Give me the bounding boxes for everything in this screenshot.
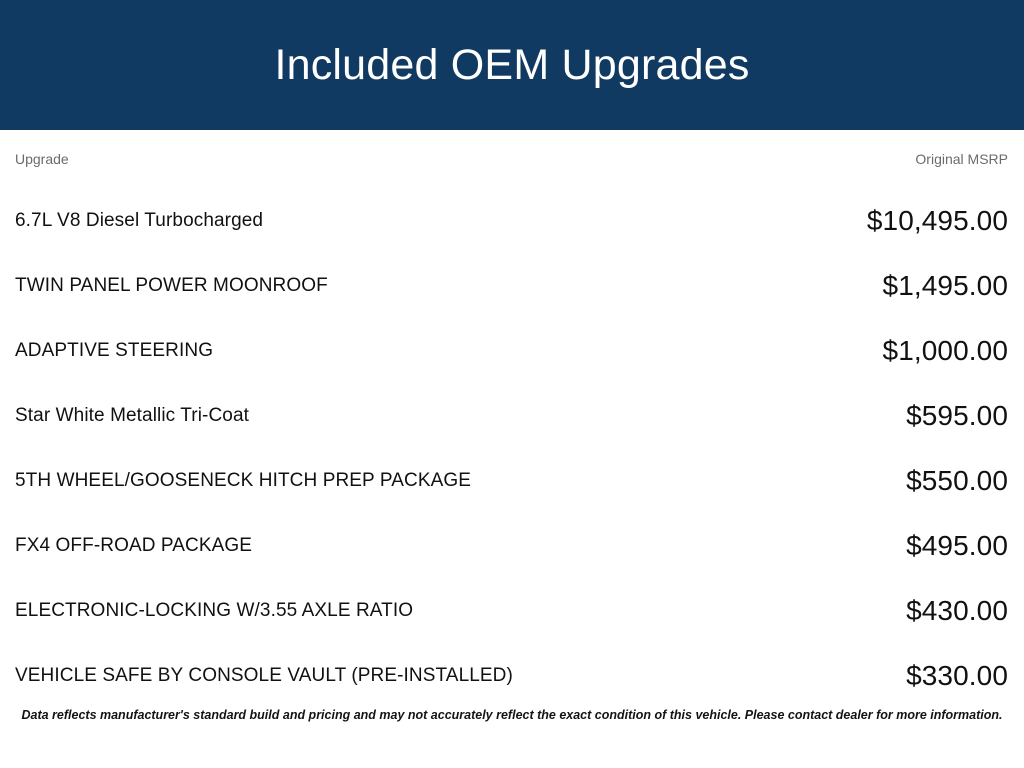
upgrade-name: 5TH WHEEL/GOOSENECK HITCH PREP PACKAGE xyxy=(15,448,789,513)
upgrade-price: $1,000.00 xyxy=(789,318,1008,383)
table-row: VEHICLE SAFE BY CONSOLE VAULT (PRE-INSTA… xyxy=(15,643,1008,708)
table-header: Upgrade Original MSRP xyxy=(15,130,1008,188)
column-header-msrp: Original MSRP xyxy=(789,130,1008,188)
upgrade-name: ELECTRONIC-LOCKING W/3.55 AXLE RATIO xyxy=(15,578,789,643)
upgrade-price: $595.00 xyxy=(789,383,1008,448)
upgrade-name: 6.7L V8 Diesel Turbocharged xyxy=(15,188,789,253)
upgrade-price: $1,495.00 xyxy=(789,253,1008,318)
column-header-upgrade: Upgrade xyxy=(15,130,789,188)
disclaimer-text: Data reflects manufacturer's standard bu… xyxy=(0,708,1024,723)
upgrade-name: ADAPTIVE STEERING xyxy=(15,318,789,383)
oem-upgrades-page: Included OEM Upgrades Upgrade Original M… xyxy=(0,0,1024,768)
upgrade-price: $330.00 xyxy=(789,643,1008,708)
upgrade-price: $550.00 xyxy=(789,448,1008,513)
upgrade-price: $495.00 xyxy=(789,513,1008,578)
table-row: 5TH WHEEL/GOOSENECK HITCH PREP PACKAGE $… xyxy=(15,448,1008,513)
table-row: TWIN PANEL POWER MOONROOF $1,495.00 xyxy=(15,253,1008,318)
upgrade-name: FX4 OFF-ROAD PACKAGE xyxy=(15,513,789,578)
table-body: 6.7L V8 Diesel Turbocharged $10,495.00 T… xyxy=(15,188,1008,708)
table-row: 6.7L V8 Diesel Turbocharged $10,495.00 xyxy=(15,188,1008,253)
upgrade-price: $430.00 xyxy=(789,578,1008,643)
upgrades-table: Upgrade Original MSRP 6.7L V8 Diesel Tur… xyxy=(15,130,1008,708)
table-header-row: Upgrade Original MSRP xyxy=(15,130,1008,188)
upgrades-table-container: Upgrade Original MSRP 6.7L V8 Diesel Tur… xyxy=(0,130,1024,708)
table-row: FX4 OFF-ROAD PACKAGE $495.00 xyxy=(15,513,1008,578)
page-header-banner: Included OEM Upgrades xyxy=(0,0,1024,130)
table-row: Star White Metallic Tri-Coat $595.00 xyxy=(15,383,1008,448)
page-title: Included OEM Upgrades xyxy=(274,44,749,87)
table-row: ELECTRONIC-LOCKING W/3.55 AXLE RATIO $43… xyxy=(15,578,1008,643)
table-row: ADAPTIVE STEERING $1,000.00 xyxy=(15,318,1008,383)
upgrade-price: $10,495.00 xyxy=(789,188,1008,253)
upgrade-name: TWIN PANEL POWER MOONROOF xyxy=(15,253,789,318)
upgrade-name: Star White Metallic Tri-Coat xyxy=(15,383,789,448)
upgrade-name: VEHICLE SAFE BY CONSOLE VAULT (PRE-INSTA… xyxy=(15,643,789,708)
